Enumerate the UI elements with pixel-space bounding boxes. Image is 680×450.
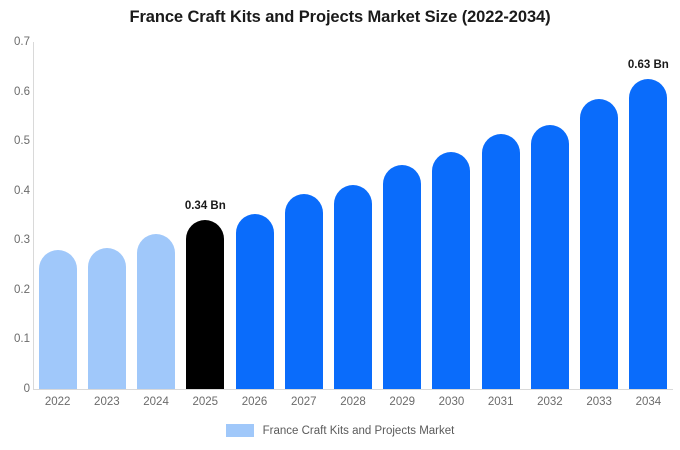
y-tick-label: 0.4 <box>2 185 30 197</box>
y-tick-label: 0.5 <box>2 135 30 147</box>
x-tick-label-2034: 2034 <box>618 396 678 408</box>
chart-container: France Craft Kits and Projects Market Si… <box>0 0 680 450</box>
bar-2026[interactable] <box>236 214 274 389</box>
bar-2029[interactable] <box>383 165 421 389</box>
y-tick-label: 0.3 <box>2 234 30 246</box>
x-axis-line <box>33 389 673 390</box>
y-axis-tick-labels: 00.10.20.30.40.50.60.7 <box>0 0 30 450</box>
legend-swatch-icon <box>226 424 254 437</box>
bar-2027[interactable] <box>285 194 323 389</box>
y-tick-label: 0.2 <box>2 284 30 296</box>
y-tick-label: 0.6 <box>2 86 30 98</box>
y-tick-label: 0.1 <box>2 333 30 345</box>
bar-2034[interactable] <box>629 79 667 389</box>
bar-2031[interactable] <box>482 134 520 389</box>
bar-2033[interactable] <box>580 99 618 389</box>
bar-2025[interactable] <box>186 220 224 389</box>
y-tick-label: 0.7 <box>2 36 30 48</box>
chart-legend: France Craft Kits and Projects Market <box>0 424 680 437</box>
bar-2022[interactable] <box>39 250 77 389</box>
bar-2024[interactable] <box>137 234 175 389</box>
data-label-2025: 0.34 Bn <box>185 200 226 212</box>
bar-2023[interactable] <box>88 248 126 389</box>
bar-series <box>33 42 673 389</box>
data-label-2034: 0.63 Bn <box>628 59 669 71</box>
y-tick-label: 0 <box>2 383 30 395</box>
bar-2028[interactable] <box>334 185 372 389</box>
legend-item-label: France Craft Kits and Projects Market <box>263 425 455 437</box>
bar-2030[interactable] <box>432 152 470 389</box>
chart-title: France Craft Kits and Projects Market Si… <box>0 8 680 27</box>
bar-2032[interactable] <box>531 125 569 389</box>
